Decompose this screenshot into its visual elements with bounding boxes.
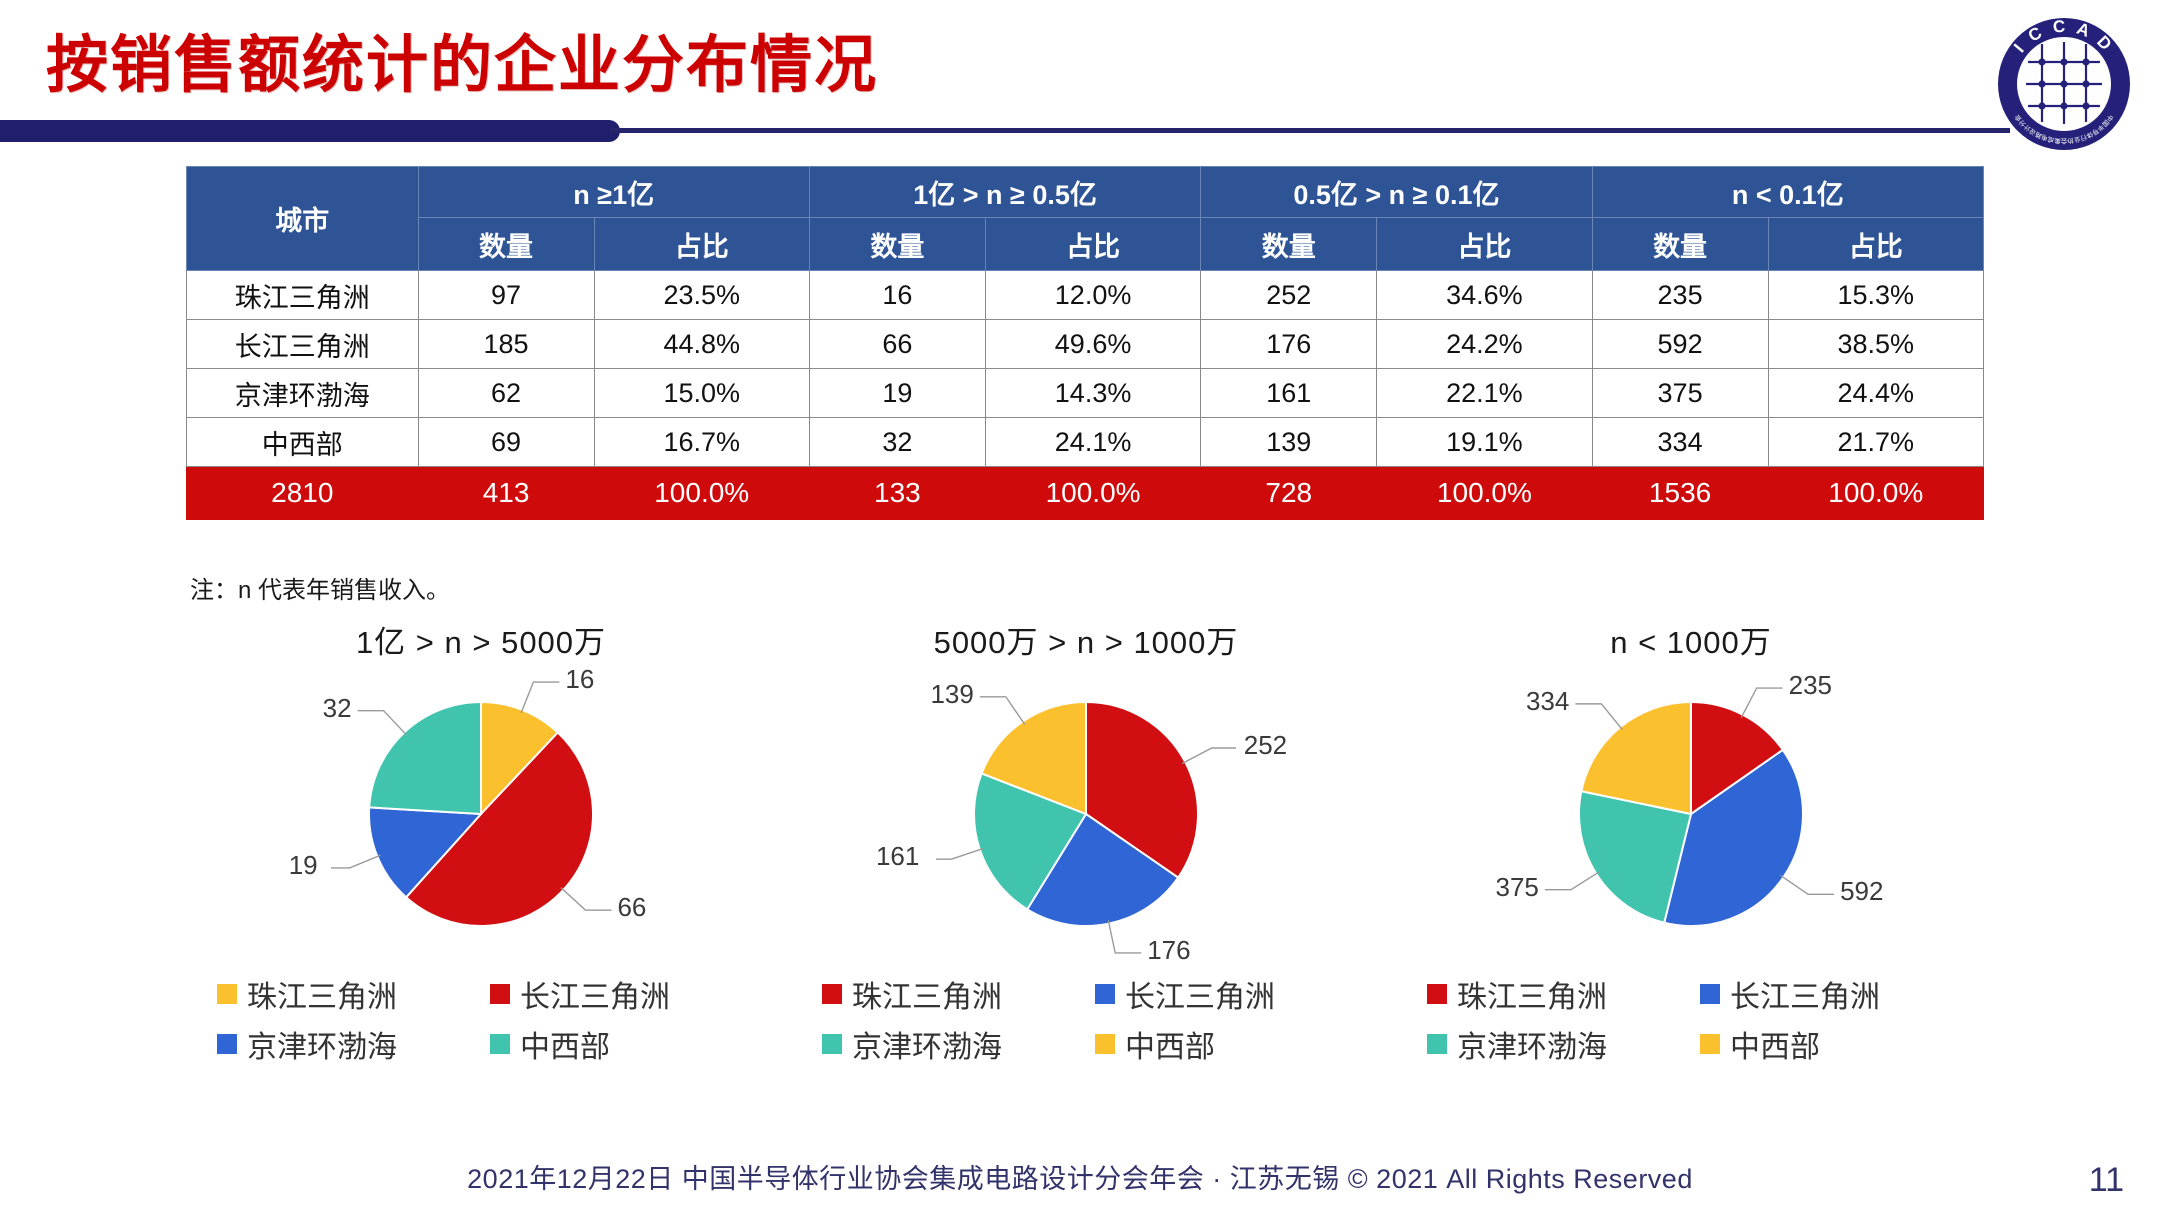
legend-item: 珠江三角洲 [217,972,472,1016]
legend-label: 京津环渤海 [852,1022,1002,1066]
pie-leader-line [936,849,983,860]
chart-title: 1亿 > n > 5000万 [186,620,776,666]
legend-label: 京津环渤海 [1457,1022,1607,1066]
cell-value: 161 [1201,369,1377,418]
legend-item: 长江三角洲 [1095,972,1350,1016]
pie-svg [936,666,1236,966]
cell-total-value: 100.0% [1377,467,1592,520]
cell-value: 16 [809,271,985,320]
cell-value: 38.5% [1768,320,1983,369]
pie-leader-line [331,855,381,868]
cell-value: 21.7% [1768,418,1983,467]
pie-value-label: 176 [1147,935,1190,966]
table-row: 长江三角洲 185 44.8% 66 49.6% 176 24.2% 592 3… [187,320,1984,369]
legend-swatch [217,1034,237,1054]
cell-value: 139 [1201,418,1377,467]
table-head: 城市 n ≥1亿 1亿 > n ≥ 0.5亿 0.5亿 > n ≥ 0.1亿 n… [187,167,1984,271]
cell-value: 12.0% [985,271,1200,320]
pie-chart-2: 5000万 > n > 1000万 252176161139 珠江三角洲 长江三… [791,620,1381,1130]
cell-value: 66 [809,320,985,369]
pie-value-label: 139 [791,679,974,710]
header-count-1: 数量 [418,218,594,271]
header-percent-2: 占比 [985,218,1200,271]
cell-value: 34.6% [1377,271,1592,320]
cell-value: 23.5% [594,271,809,320]
footer-text: 2021年12月22日 中国半导体行业协会集成电路设计分会年会 · 江苏无锡 ©… [0,1157,2160,1196]
cell-value: 32 [809,418,985,467]
chart-legend: 珠江三角洲 长江三角洲 京津环渤海 中西部 [1396,972,1986,1066]
pie-svg [331,666,631,966]
pie-leader-line [1545,872,1599,890]
chart-title: n < 1000万 [1396,620,1986,666]
legend-label: 中西部 [1730,1022,1820,1066]
page-number: 11 [2089,1161,2124,1200]
header-percent-3: 占比 [1377,218,1592,271]
legend-item: 珠江三角洲 [822,972,1077,1016]
cell-total-value: 100.0% [985,467,1200,520]
cell-value: 22.1% [1377,369,1592,418]
pie-value-label: 252 [1244,730,1287,761]
table-total-row: 2810 413 100.0% 133 100.0% 728 100.0% 15… [187,467,1984,520]
header-group-3: 0.5亿 > n ≥ 0.1亿 [1201,167,1592,218]
legend-swatch [217,984,237,1004]
legend-item: 中西部 [1700,1022,1955,1066]
pie-area: 252176161139 [791,666,1381,966]
title-rule-thick [0,120,620,142]
legend-item: 珠江三角洲 [1427,972,1682,1016]
cell-value: 44.8% [594,320,809,369]
pie-value-label: 161 [791,841,919,872]
table-body: 珠江三角洲 97 23.5% 16 12.0% 252 34.6% 235 15… [187,271,1984,520]
pie-leader-line [1575,704,1622,730]
pie-value-label: 235 [1789,670,1832,701]
cell-value: 592 [1592,320,1768,369]
cell-total-value: 1536 [1592,467,1768,520]
legend-item: 京津环渤海 [822,1022,1077,1066]
table-group-header-row: 城市 n ≥1亿 1亿 > n ≥ 0.5亿 0.5亿 > n ≥ 0.1亿 n… [187,167,1984,218]
table-note: 注：n 代表年销售收入。 [190,570,450,605]
legend-swatch [490,984,510,1004]
cell-total-label: 2810 [187,467,419,520]
cell-value: 69 [418,418,594,467]
legend-swatch [490,1034,510,1054]
pie-slice [369,702,481,814]
chart-title: 5000万 > n > 1000万 [791,620,1381,666]
pie-leader-line [521,682,559,713]
cell-region: 中西部 [187,418,419,467]
pie-leader-line [1781,875,1835,894]
pie-leader-line [1741,688,1782,718]
legend-swatch [1095,1034,1115,1054]
cell-value: 235 [1592,271,1768,320]
pie-leader-line [358,711,407,735]
cell-value: 176 [1201,320,1377,369]
pie-area: 235592375334 [1396,666,1986,966]
pie-value-label: 66 [617,892,646,923]
pie-value-label: 592 [1840,876,1883,907]
iccad-logo: I C C A D 中国半导体行业协会集成电路设计分会 [1996,16,2132,152]
legend-label: 中西部 [1125,1022,1215,1066]
cell-value: 19 [809,369,985,418]
cell-total-value: 133 [809,467,985,520]
header-count-2: 数量 [809,218,985,271]
iccad-logo-icon: I C C A D 中国半导体行业协会集成电路设计分会 [1996,16,2132,152]
pie-value-label: 16 [565,664,594,695]
legend-label: 长江三角洲 [1730,972,1880,1016]
legend-item: 京津环渤海 [1427,1022,1682,1066]
legend-swatch [1095,984,1115,1004]
enterprise-distribution-table: 城市 n ≥1亿 1亿 > n ≥ 0.5亿 0.5亿 > n ≥ 0.1亿 n… [186,166,1984,520]
legend-swatch [822,1034,842,1054]
header-count-3: 数量 [1201,218,1377,271]
header-city: 城市 [187,167,419,271]
title-rule-thin [610,128,2010,133]
header-group-2: 1亿 > n ≥ 0.5亿 [809,167,1200,218]
table-sub-header-row: 数量 占比 数量 占比 数量 占比 数量 占比 [187,218,1984,271]
cell-region: 珠江三角洲 [187,271,419,320]
cell-value: 97 [418,271,594,320]
cell-value: 375 [1592,369,1768,418]
cell-value: 14.3% [985,369,1200,418]
cell-value: 19.1% [1377,418,1592,467]
legend-label: 京津环渤海 [247,1022,397,1066]
table-row: 珠江三角洲 97 23.5% 16 12.0% 252 34.6% 235 15… [187,271,1984,320]
legend-swatch [1427,984,1447,1004]
legend-item: 中西部 [1095,1022,1350,1066]
legend-item: 长江三角洲 [490,972,745,1016]
table-row: 中西部 69 16.7% 32 24.1% 139 19.1% 334 21.7… [187,418,1984,467]
cell-region: 长江三角洲 [187,320,419,369]
chart-legend: 珠江三角洲 长江三角洲 京津环渤海 中西部 [186,972,776,1066]
cell-value: 24.1% [985,418,1200,467]
legend-label: 珠江三角洲 [852,972,1002,1016]
header-count-4: 数量 [1592,218,1768,271]
pie-leader-line [980,697,1025,725]
legend-swatch [1700,1034,1720,1054]
legend-label: 中西部 [520,1022,610,1066]
table-row: 京津环渤海 62 15.0% 19 14.3% 161 22.1% 375 24… [187,369,1984,418]
legend-swatch [1700,984,1720,1004]
pie-chart-1: 1亿 > n > 5000万 16661932 珠江三角洲 长江三角洲 京津环渤… [186,620,776,1130]
pie-value-label: 375 [1396,872,1539,903]
legend-item: 京津环渤海 [217,1022,472,1066]
cell-total-value: 100.0% [1768,467,1983,520]
cell-total-value: 413 [418,467,594,520]
chart-legend: 珠江三角洲 长江三角洲 京津环渤海 中西部 [791,972,1381,1066]
pie-leader-line [1182,748,1236,764]
cell-value: 24.4% [1768,369,1983,418]
legend-item: 中西部 [490,1022,745,1066]
cell-value: 49.6% [985,320,1200,369]
cell-region: 京津环渤海 [187,369,419,418]
pie-leader-line [1108,920,1141,953]
pie-svg [1541,666,1841,966]
cell-value: 252 [1201,271,1377,320]
legend-swatch [1427,1034,1447,1054]
cell-total-value: 100.0% [594,467,809,520]
legend-label: 长江三角洲 [520,972,670,1016]
pie-value-label: 32 [186,693,352,724]
header-percent-1: 占比 [594,218,809,271]
cell-value: 334 [1592,418,1768,467]
pie-chart-row: 1亿 > n > 5000万 16661932 珠江三角洲 长江三角洲 京津环渤… [186,620,1986,1130]
legend-label: 珠江三角洲 [1457,972,1607,1016]
legend-label: 长江三角洲 [1125,972,1275,1016]
cell-value: 16.7% [594,418,809,467]
cell-value: 24.2% [1377,320,1592,369]
cell-value: 15.3% [1768,271,1983,320]
header-group-4: n < 0.1亿 [1592,167,1983,218]
page-title: 按销售额统计的企业分布情况 [46,14,878,104]
pie-area: 16661932 [186,666,776,966]
pie-value-label: 334 [1396,686,1569,717]
pie-value-label: 19 [186,850,318,881]
legend-swatch [822,984,842,1004]
header-percent-4: 占比 [1768,218,1983,271]
legend-item: 长江三角洲 [1700,972,1955,1016]
cell-total-value: 728 [1201,467,1377,520]
pie-chart-3: n < 1000万 235592375334 珠江三角洲 长江三角洲 京津环渤海… [1396,620,1986,1130]
cell-value: 185 [418,320,594,369]
cell-value: 15.0% [594,369,809,418]
header-group-1: n ≥1亿 [418,167,809,218]
pie-leader-line [561,888,612,911]
legend-label: 珠江三角洲 [247,972,397,1016]
cell-value: 62 [418,369,594,418]
